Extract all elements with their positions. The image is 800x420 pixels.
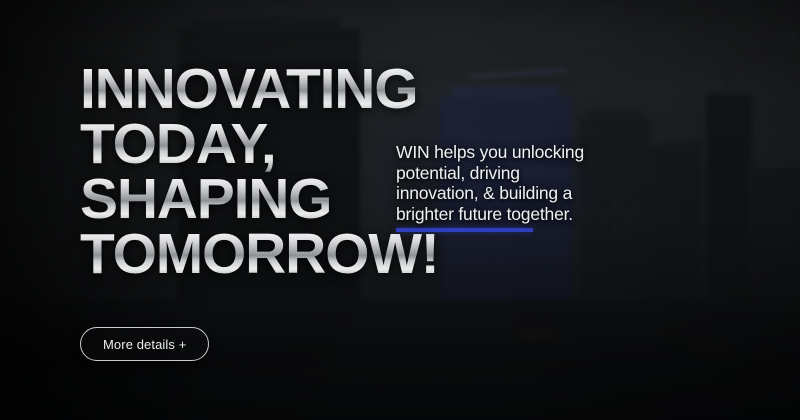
headline: INNOVATING TODAY, SHAPING TOMORROW! (80, 62, 439, 282)
more-details-button[interactable]: More details + (80, 327, 209, 361)
tagline-block: WIN helps you unlocking potential, drivi… (396, 142, 586, 232)
hero-banner: INNOVATING TODAY, SHAPING TOMORROW! WIN … (0, 0, 800, 420)
headline-line-1: INNOVATING (80, 62, 439, 117)
headline-line-2: TODAY, (80, 117, 439, 172)
tagline-text: WIN helps you unlocking potential, drivi… (396, 142, 586, 224)
headline-line-3: SHAPING (80, 172, 439, 227)
headline-line-4: TOMORROW! (80, 227, 439, 282)
banner-content: INNOVATING TODAY, SHAPING TOMORROW! WIN … (0, 0, 800, 420)
tagline-accent-rule (396, 228, 533, 232)
